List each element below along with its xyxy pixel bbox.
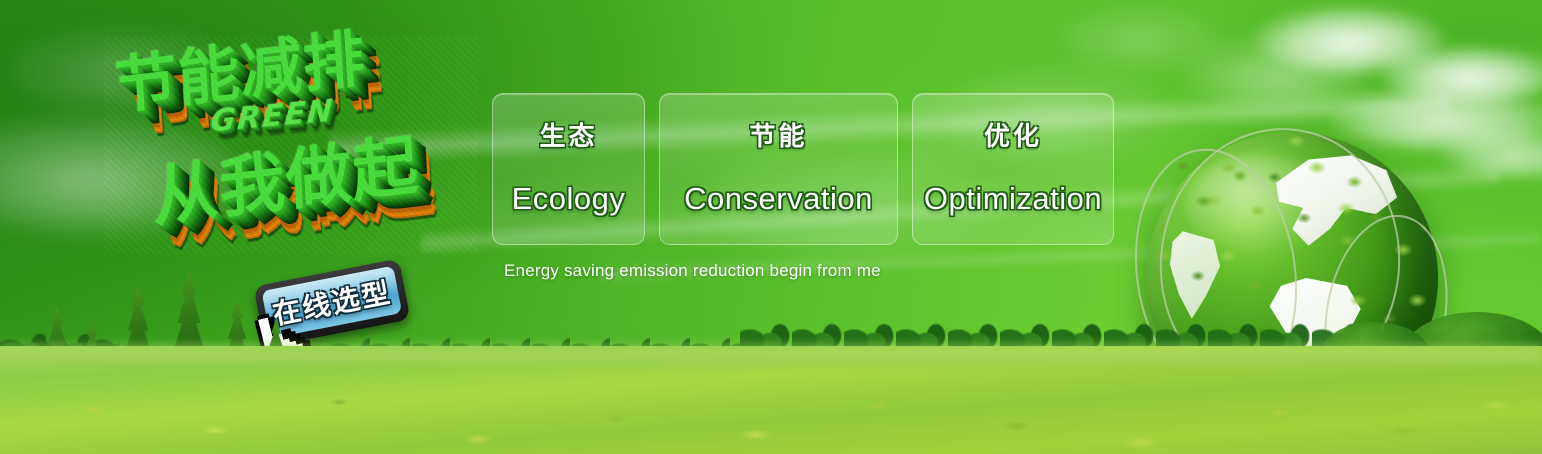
shrub [1320, 322, 1430, 376]
vine-stem [1147, 116, 1414, 410]
headline-texture-overlay [104, 36, 478, 254]
vine-cluster-left [1126, 136, 1276, 386]
card-title-en: Conservation [684, 181, 873, 217]
globe-gloss-highlight [1187, 155, 1339, 254]
globe-shadow [1156, 398, 1428, 432]
cloud-decoration [1330, 88, 1542, 150]
cloud-decoration [1060, 10, 1220, 66]
globe-vine-overlay [1132, 118, 1452, 438]
leafy-globe-icon [1146, 132, 1438, 424]
conifer-tree [112, 284, 164, 402]
continent-west-landmass [1164, 231, 1228, 319]
treeline-left [0, 324, 120, 358]
vine-stem [1310, 205, 1463, 423]
leaf [1435, 378, 1451, 392]
leaf [1353, 425, 1369, 441]
banner-tagline: Energy saving emission reduction begin f… [504, 261, 881, 281]
card-title-cn: 优化 [984, 116, 1042, 153]
card-title-cn: 节能 [749, 116, 807, 153]
cloud-decoration [1255, 6, 1445, 72]
leaf [1455, 416, 1471, 430]
vine-cluster-right [1322, 190, 1462, 420]
cloud-decoration [1440, 130, 1542, 178]
tree-trunk [91, 386, 93, 400]
cloud-decoration [10, 30, 230, 110]
online-selection-button[interactable]: 在线选型 [253, 258, 410, 347]
card-title-en: Ecology [512, 181, 626, 217]
feature-card-optimization[interactable]: 优化 Optimization [912, 93, 1114, 245]
leaf [1419, 437, 1433, 448]
vine-stem [1119, 138, 1312, 408]
globe-sphere [1146, 132, 1438, 424]
conifer-tree [72, 322, 112, 400]
tree-trunk [136, 381, 139, 402]
tree-crown [34, 306, 80, 389]
leaf [1411, 341, 1427, 356]
tree-trunk [275, 385, 277, 400]
shrub [282, 358, 366, 398]
vine-cluster-top [1174, 110, 1384, 230]
feature-card-conservation[interactable]: 节能 Conservation [659, 93, 898, 245]
leaf [1361, 383, 1377, 398]
card-title-en: Optimization [924, 181, 1102, 217]
tree-crown [214, 298, 260, 387]
falling-leaves [1336, 332, 1486, 454]
headline-glow [78, 18, 498, 268]
headline-line-2: 从我做起 [150, 111, 421, 240]
conifer-tree [34, 306, 80, 402]
leaf [1379, 357, 1394, 369]
feature-card-ecology[interactable]: 生态 Ecology [492, 93, 645, 245]
treeline-mid [330, 328, 750, 354]
leaf [1397, 401, 1411, 412]
cloud-decoration [0, 120, 240, 230]
shrub [0, 362, 60, 396]
shrub [1402, 312, 1542, 382]
headline-3d-text: 节能减排 GREEN 从我做起 [104, 36, 478, 254]
continent-south-america [1263, 278, 1377, 406]
grass-field [0, 346, 1542, 454]
headline-accent-green: GREEN [210, 93, 336, 139]
tree-trunk [236, 383, 239, 402]
green-energy-banner: 节能减排 GREEN 从我做起 在线选型 生态 Ecology 节能 Conse… [0, 0, 1542, 454]
tree-trunk [187, 380, 190, 404]
conifer-tree [214, 298, 260, 402]
tree-crown [72, 322, 112, 389]
card-title-cn: 生态 [539, 116, 597, 153]
leaf [1345, 338, 1360, 351]
tree-trunk [56, 385, 59, 402]
continent-north-america [1263, 155, 1397, 260]
tree-crown [160, 270, 218, 385]
conifer-tree [160, 270, 218, 404]
headline-line-1: 节能减排 [112, 7, 368, 125]
feature-cards: 生态 Ecology 节能 Conservation 优化 Optimizati… [492, 93, 1114, 245]
cloud-decoration [1190, 40, 1370, 110]
tree-crown [112, 284, 164, 385]
treeline-right [740, 314, 1542, 356]
cloud-decoration [1380, 46, 1542, 104]
